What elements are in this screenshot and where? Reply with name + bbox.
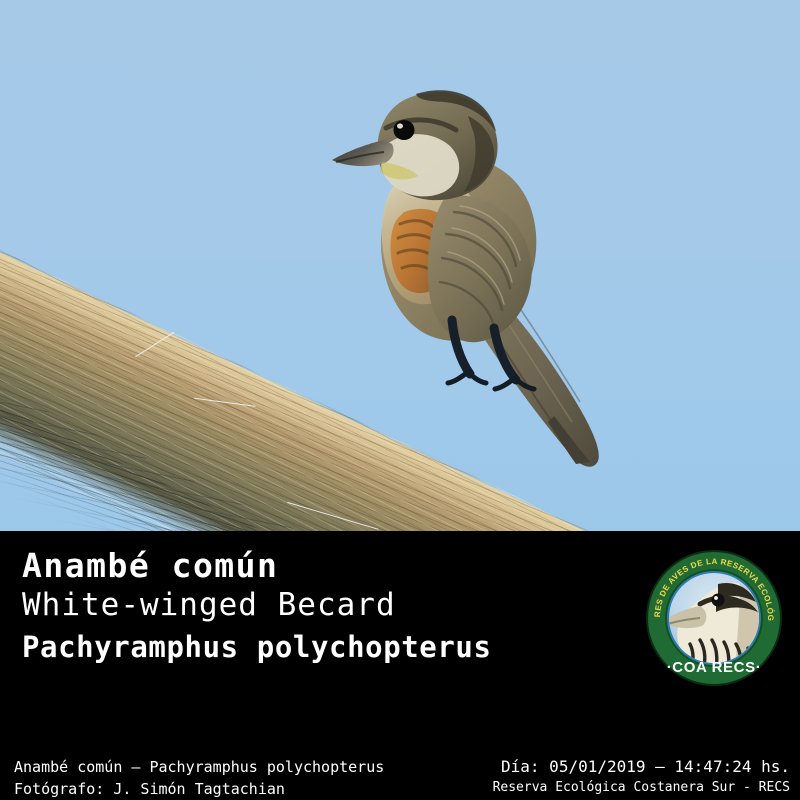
- bird-white-winged-becard: [318, 72, 658, 472]
- scientific-name: Pachyramphus polychopterus: [22, 630, 492, 664]
- common-name-english: White-winged Becard: [22, 587, 396, 623]
- footer-photographer-line: Fotógrafo: J. Simón Tagtachian: [14, 780, 285, 798]
- footer-species-line: Anambé común – Pachyramphus polychopteru…: [14, 758, 384, 776]
- footer-location: Reserva Ecológica Costanera Sur - RECS: [493, 780, 790, 795]
- common-name-spanish: Anambé común: [22, 546, 278, 585]
- coa-recs-logo: CLUB DE OBSERVADORES DE AVES DE LA RESER…: [644, 548, 784, 688]
- bird-eye-highlight: [397, 123, 403, 128]
- logo-acronym: ·COA RECS·: [667, 659, 762, 676]
- bird-bill: [332, 140, 394, 166]
- photo-caption-card: Anambé común White-winged Becard Pachyra…: [0, 0, 800, 800]
- bird-eye: [394, 120, 415, 140]
- footer-datetime: Día: 05/01/2019 – 14:47:24 hs.: [501, 757, 790, 776]
- bird-photograph: [0, 0, 800, 531]
